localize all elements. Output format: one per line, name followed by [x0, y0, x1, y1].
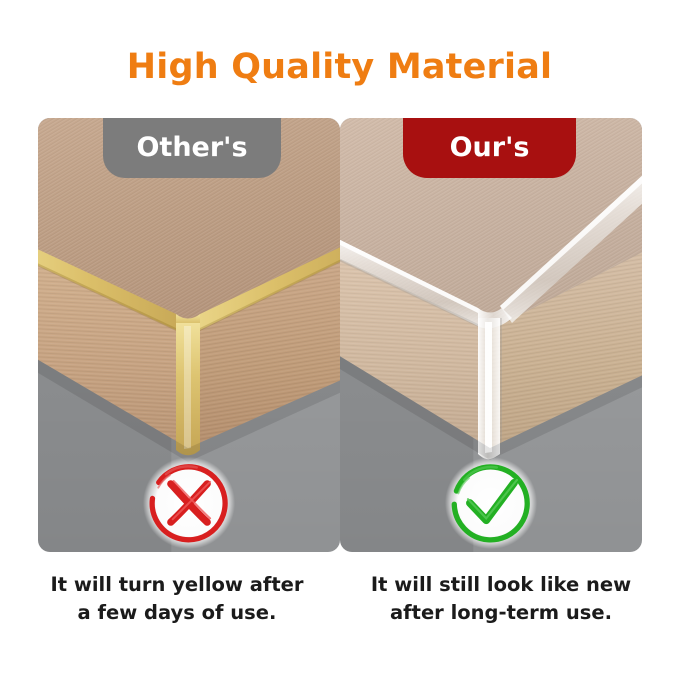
cross-mark-icon: [141, 455, 237, 551]
caption-other: It will turn yellow after a few days of …: [17, 571, 337, 626]
page-title: High Quality Material: [0, 47, 679, 87]
caption-other-line1: It will turn yellow after: [50, 573, 303, 596]
comparison-panel-ours: Our's: [340, 118, 642, 552]
caption-other-line2: a few days of use.: [17, 599, 337, 627]
comparison-panel-other: Other's: [38, 118, 340, 552]
caption-ours: It will still look like new after long-t…: [341, 571, 661, 626]
check-mark-icon: [443, 455, 539, 551]
badge-other: Other's: [103, 118, 281, 178]
badge-ours: Our's: [403, 118, 576, 178]
comparison-infographic: High Quality Material: [0, 0, 679, 679]
caption-ours-line2: after long-term use.: [341, 599, 661, 627]
caption-ours-line1: It will still look like new: [371, 573, 631, 596]
